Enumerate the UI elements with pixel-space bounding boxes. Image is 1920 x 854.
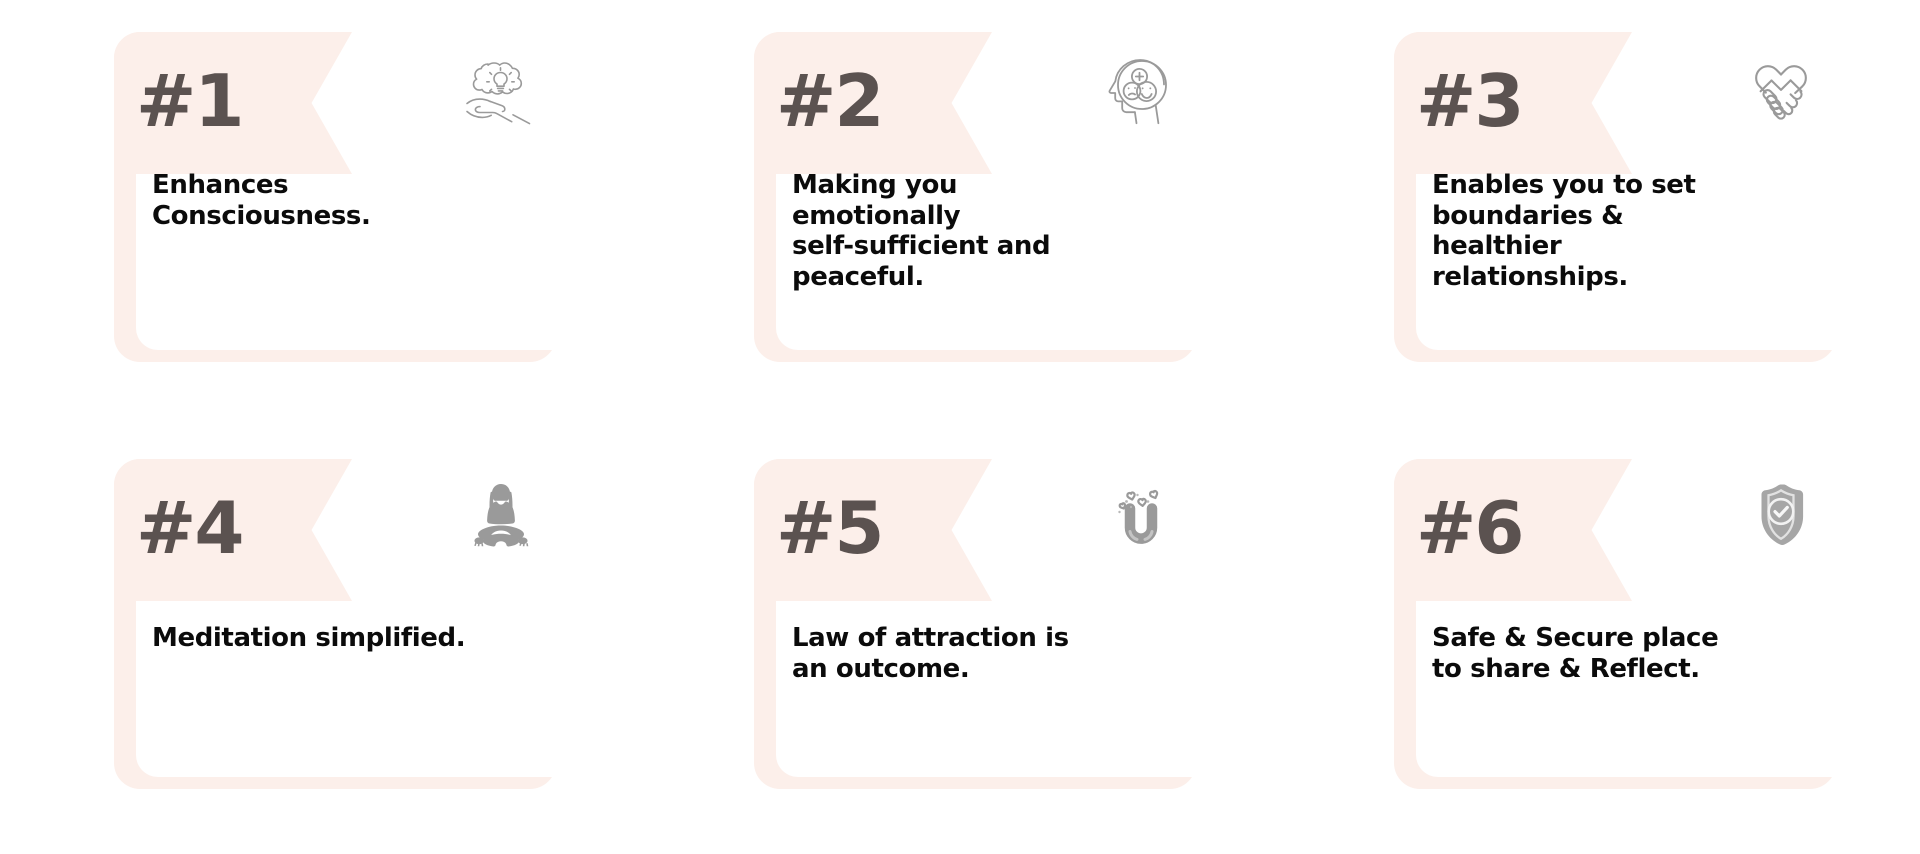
card-number-5: #5 <box>754 473 984 583</box>
shield-check-icon <box>1738 475 1824 561</box>
benefit-card-1[interactable]: #1 Enhances Conscio <box>0 0 640 427</box>
benefit-card-4[interactable]: #4 Medit <box>0 427 640 854</box>
magnet-with-hearts-icon <box>1098 475 1184 561</box>
meditation-lotus-pose-icon <box>458 475 544 561</box>
handshake-heart-icon <box>1738 48 1824 134</box>
card-number-6: #6 <box>1394 473 1624 583</box>
benefit-card-2[interactable]: #2 <box>640 0 1280 427</box>
card-text-6: Safe & Secure place to share & Reflect. <box>1432 623 1762 684</box>
cards-grid: #1 Enhances Conscio <box>0 0 1920 854</box>
brain-lightbulb-in-hand-icon <box>458 48 544 134</box>
benefit-card-3[interactable]: #3 <box>1280 0 1920 427</box>
head-with-emotion-faces-icon <box>1098 48 1184 134</box>
card-number-4: #4 <box>114 473 344 583</box>
card-number-2: #2 <box>754 46 984 156</box>
benefit-card-5[interactable]: #5 <box>640 427 1280 854</box>
card-number-3: #3 <box>1394 46 1624 156</box>
card-text-5: Law of attraction is an outcome. <box>792 623 1122 684</box>
card-text-1: Enhances Consciousness. <box>152 170 482 231</box>
card-text-2: Making you emotionally self-sufficient a… <box>792 170 1122 293</box>
benefits-board: #1 Enhances Conscio <box>0 0 1920 854</box>
card-text-4: Meditation simplified. <box>152 623 482 654</box>
card-text-3: Enables you to set boundaries & healthie… <box>1432 170 1762 293</box>
benefit-card-6[interactable]: #6 Safe & Secure place to share & Reflec… <box>1280 427 1920 854</box>
card-number-1: #1 <box>114 46 344 156</box>
